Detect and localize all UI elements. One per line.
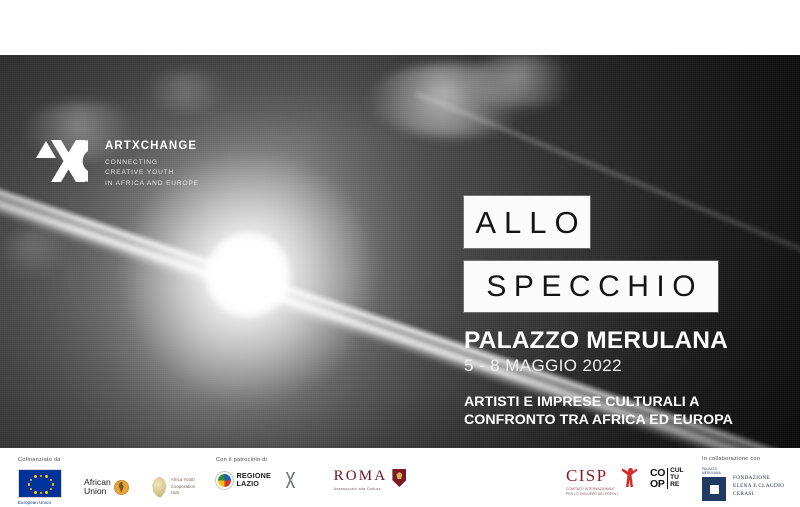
brand-name-x: X	[132, 140, 141, 152]
cisp-subtitle: COMITATO INTERNAZIONALE PER LO SVILUPPO …	[566, 487, 618, 496]
artxchange-logo: ARTXCHANGE CONNECTING CREATIVE YOUTH IN …	[34, 137, 199, 190]
african-union-logo: African Union	[84, 478, 129, 496]
regione-lazio-text: REGIONE LAZIO	[237, 472, 272, 489]
roma-text-block: ROMA Assessorato alla Cultura	[334, 469, 388, 491]
coopculture-logo: CO OP CUL TU RE	[650, 468, 683, 489]
roma-logo: ROMA Assessorato alla Cultura	[334, 469, 407, 491]
event-info-block: PALAZZO MERULANA 5 - 8 MAGGIO 2022 ARTIS…	[464, 328, 784, 448]
collaboration-logos: PALAZZO MERULANA FONDAZIONE ELENA E CLAU…	[702, 467, 784, 501]
african-union-line-2: Union	[84, 487, 111, 496]
event-tagline-line-2: CONFRONTO TRA AFRICA ED EUROPA	[464, 411, 784, 430]
brand-tagline-line-2: CREATIVE YOUTH	[105, 168, 199, 179]
event-dates: 5 - 8 MAGGIO 2022	[464, 357, 784, 376]
roma-shield-icon	[392, 469, 406, 487]
fondazione-cerasi-logo: FONDAZIONE ELENA E CLAUDIO CERASI	[733, 467, 784, 499]
poster: ARTXCHANGE CONNECTING CREATIVE YOUTH IN …	[0, 0, 800, 507]
cisp-logo: CISP COMITATO INTERNAZIONALE PER LO SVIL…	[566, 467, 640, 496]
palazzo-merulana-square-icon	[702, 477, 726, 501]
event-tagline-line-1: ARTISTI E IMPRESE CULTURALI A	[464, 393, 784, 412]
roma-wordmark: ROMA	[334, 469, 388, 484]
headline-box-allo: ALLO	[464, 196, 590, 248]
coopculture-culture-block: CUL TU RE	[667, 468, 683, 489]
coopculture-coop-block: CO OP	[650, 468, 665, 489]
cisp-subtitle-line-1: COMITATO INTERNAZIONALE	[566, 487, 618, 492]
fondazione-line-2: ELENA E CLAUDIO	[733, 482, 784, 490]
palazzo-merulana-caption: PALAZZO MERULANA	[702, 467, 726, 475]
hero-photo: ARTXCHANGE CONNECTING CREATIVE YOUTH IN …	[0, 55, 800, 448]
brand-name-part1: ART	[105, 140, 132, 152]
fondazione-line-1: FONDAZIONE	[733, 474, 784, 482]
cisp-figure-icon	[621, 467, 640, 488]
brand-name-part2: CHANGE	[141, 140, 197, 152]
headline-line-2: SPECCHIO	[464, 272, 718, 302]
sponsor-footer: Cofinanziato da European Union A	[0, 448, 800, 507]
coopculture-op: OP	[650, 479, 665, 490]
brand-tagline-line-3: IN AFRICA AND EUROPE	[105, 179, 199, 190]
brand-text-block: ARTXCHANGE CONNECTING CREATIVE YOUTH IN …	[105, 137, 199, 190]
ayc-hub-logo: Africa Youth Cooperation Hub	[151, 477, 196, 498]
coopculture-group: CO OP CUL TU RE	[650, 448, 710, 507]
brand-name: ARTXCHANGE	[105, 141, 199, 153]
ayc-hub-line-1: Africa Youth	[171, 477, 196, 483]
cofinanced-group: Cofinanziato da European Union A	[18, 448, 208, 507]
fondazione-line-3: CERASI	[733, 490, 784, 498]
patronage-group: Con il patrocinio di REGIONE LAZIO ROMA …	[216, 448, 386, 507]
cisp-text-block: CISP COMITATO INTERNAZIONALE PER LO SVIL…	[566, 467, 618, 496]
africa-globe-icon	[114, 480, 129, 495]
collaboration-label: In collaborazione con	[702, 457, 760, 463]
regione-lazio-emblem-icon	[216, 472, 233, 489]
event-tagline: ARTISTI E IMPRESE CULTURALI A CONFRONTO …	[464, 393, 784, 430]
ayc-hub-icon	[151, 477, 168, 498]
cisp-wordmark: CISP	[566, 467, 618, 484]
african-union-text: African Union	[84, 478, 111, 496]
eu-caption: European Union	[18, 500, 62, 505]
axc-triangle-x-c-logo-icon	[34, 137, 96, 185]
roma-subtitle: Assessorato alla Cultura	[334, 487, 388, 491]
regione-lazio-logo: REGIONE LAZIO	[216, 472, 306, 489]
collaboration-group: In collaborazione con PALAZZO MERULANA F…	[702, 448, 798, 507]
palazzo-merulana-logo: PALAZZO MERULANA	[702, 467, 726, 501]
cisp-subtitle-line-2: PER LO SVILUPPO DEI POPOLI	[566, 492, 618, 497]
eu-flag-icon	[18, 469, 62, 498]
eu-logo: European Union	[18, 469, 62, 505]
coopculture-re: RE	[670, 482, 683, 489]
regione-lazio-swoosh-icon	[276, 472, 306, 488]
regione-lazio-line-2: LAZIO	[237, 480, 272, 488]
brand-tagline: CONNECTING CREATIVE YOUTH IN AFRICA AND …	[105, 158, 199, 190]
headline-line-1: ALLO	[464, 207, 590, 238]
cofinanced-label: Cofinanziato da	[18, 458, 61, 464]
venue-name: PALAZZO MERULANA	[464, 328, 784, 354]
palazzo-merulana-caption-line-2: MERULANA	[702, 471, 726, 475]
patronage-label: Con il patrocinio di	[216, 458, 267, 464]
ayc-hub-line-3: Hub	[171, 490, 196, 496]
brand-tagline-line-1: CONNECTING	[105, 158, 199, 169]
ayc-hub-text: Africa Youth Cooperation Hub	[171, 477, 196, 496]
headline-box-specchio: SPECCHIO	[464, 261, 718, 312]
